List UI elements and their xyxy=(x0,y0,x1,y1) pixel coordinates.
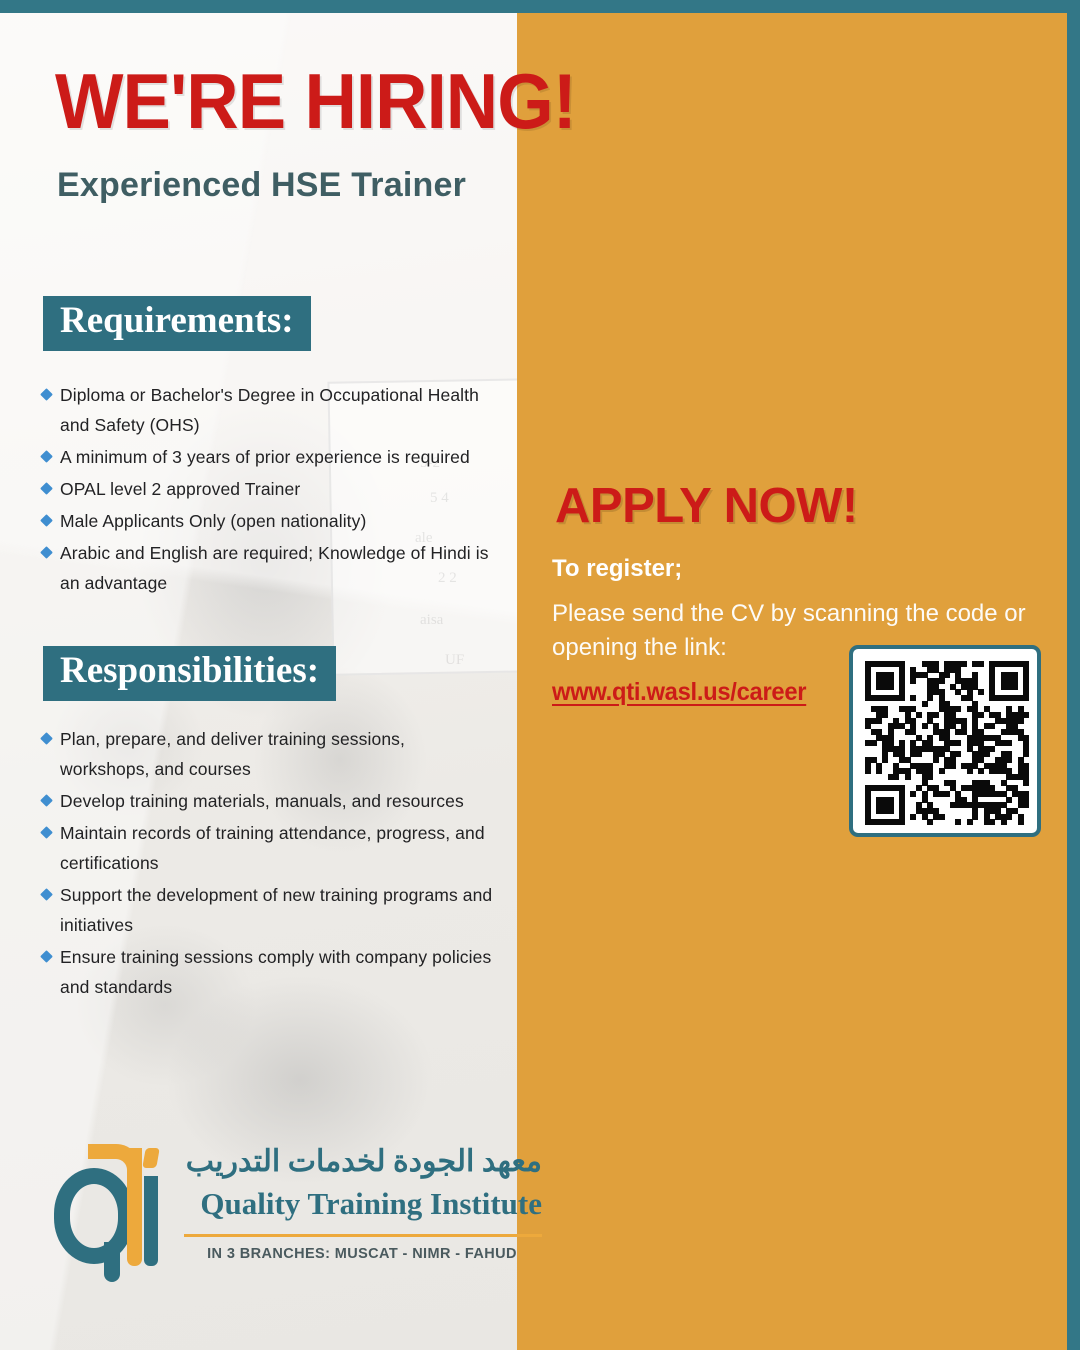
background-ceiling xyxy=(0,0,517,300)
list-item-label: Develop training materials, manuals, and… xyxy=(60,791,464,811)
list-item: Ensure training sessions comply with com… xyxy=(38,942,498,1002)
diamond-bullet-icon xyxy=(40,388,53,401)
job-poster: 5-2 5 4 ale 2 2 aisa UF ese colors repre… xyxy=(0,0,1080,1350)
list-item: Maintain records of training attendance,… xyxy=(38,818,498,878)
logo-branches-label: IN 3 BRANCHES: MUSCAT - NIMR - FAHUD xyxy=(182,1246,542,1262)
list-item-label: Support the development of new training … xyxy=(60,885,492,935)
list-item: Male Applicants Only (open nationality) xyxy=(38,506,498,536)
list-item: Support the development of new training … xyxy=(38,880,498,940)
diamond-bullet-icon xyxy=(40,732,53,745)
list-item-label: Ensure training sessions comply with com… xyxy=(60,947,491,997)
list-item-label: OPAL level 2 approved Trainer xyxy=(60,479,300,499)
list-item: A minimum of 3 years of prior experience… xyxy=(38,442,498,472)
right-accent-bar xyxy=(1067,0,1080,1350)
diamond-bullet-icon xyxy=(40,482,53,495)
diamond-bullet-icon xyxy=(40,514,53,527)
background-scribble: aisa xyxy=(420,612,443,629)
diamond-bullet-icon xyxy=(40,794,53,807)
diamond-bullet-icon xyxy=(40,546,53,559)
requirements-heading: Requirements: xyxy=(43,296,311,351)
list-item-label: Diploma or Bachelor's Degree in Occupati… xyxy=(60,385,479,435)
job-title: Experienced HSE Trainer xyxy=(57,166,466,205)
logo-english-name: Quality Training Institute xyxy=(182,1186,542,1222)
diamond-bullet-icon xyxy=(40,450,53,463)
logo-divider xyxy=(184,1234,542,1237)
qr-code[interactable] xyxy=(849,645,1041,837)
list-item-label: Maintain records of training attendance,… xyxy=(60,823,485,873)
logo-arabic-name: معهد الجودة لخدمات التدريب xyxy=(182,1144,542,1179)
list-item: Arabic and English are required; Knowled… xyxy=(38,538,498,598)
diamond-bullet-icon xyxy=(40,826,53,839)
career-link[interactable]: www.qti.wasl.us/career xyxy=(552,678,806,707)
qi-logo-icon xyxy=(52,1142,164,1282)
responsibilities-heading: Responsibilities: xyxy=(43,646,336,701)
list-item: OPAL level 2 approved Trainer xyxy=(38,474,498,504)
list-item-label: A minimum of 3 years of prior experience… xyxy=(60,447,470,467)
diamond-bullet-icon xyxy=(40,888,53,901)
apply-now-heading: APPLY NOW! xyxy=(555,478,858,534)
background-scribble: UF xyxy=(445,652,464,669)
list-item: Develop training materials, manuals, and… xyxy=(38,786,498,816)
list-item: Plan, prepare, and deliver training sess… xyxy=(38,724,498,784)
list-item-label: Arabic and English are required; Knowled… xyxy=(60,543,489,593)
to-register-label: To register; xyxy=(552,555,682,583)
list-item-label: Male Applicants Only (open nationality) xyxy=(60,511,366,531)
page-title: WE'RE HIRING! xyxy=(55,62,576,140)
responsibilities-list: Plan, prepare, and deliver training sess… xyxy=(38,724,498,1004)
requirements-list: Diploma or Bachelor's Degree in Occupati… xyxy=(38,380,498,600)
list-item-label: Plan, prepare, and deliver training sess… xyxy=(60,729,405,779)
top-accent-bar xyxy=(0,0,1080,13)
company-logo: معهد الجودة لخدمات التدريب Quality Train… xyxy=(52,1142,492,1302)
diamond-bullet-icon xyxy=(40,950,53,963)
list-item: Diploma or Bachelor's Degree in Occupati… xyxy=(38,380,498,440)
